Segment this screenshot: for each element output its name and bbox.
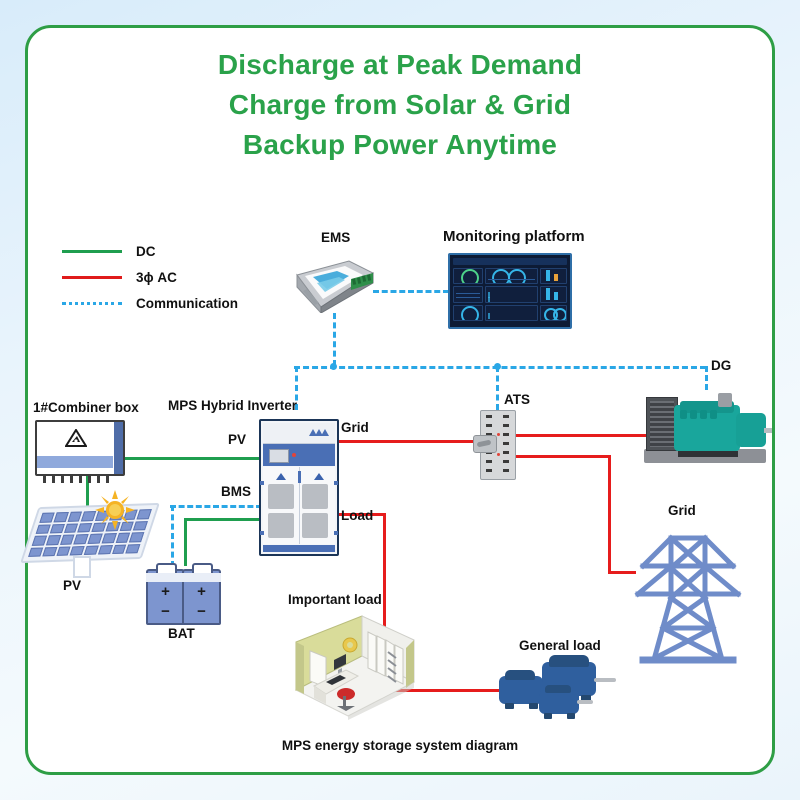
motor-small-foot-2 [567,713,575,719]
diagram-canvas: Discharge at Peak Demand Charge from Sol… [0,0,800,800]
legend-label-ac: 3ϕ AC [136,270,177,285]
dc-wire-battery-vertical [184,518,187,566]
legend: DC 3ϕ AC Communication [62,238,238,316]
label-load-port: Load [341,508,373,523]
dc-wire-combiner-to-inverter [124,457,260,460]
monitor-widget-bars-2 [540,286,567,302]
combiner-band [37,456,113,468]
label-bat: BAT [168,626,195,641]
monitoring-platform-display[interactable] [448,253,572,329]
inverter-module-3 [268,513,294,538]
sun-icon [95,490,135,530]
generator-air-filter [718,393,732,407]
inverter-control-band [263,444,335,466]
inverter-indicator-led [292,453,296,457]
ats-led-bottom [497,453,500,456]
inverter-display-icon [269,449,289,463]
label-ats: ATS [504,392,530,407]
label-grid-port: Grid [341,420,369,435]
motor-left-terminal-box [505,670,535,680]
motor-small [539,690,579,714]
inverter-terminal-right [334,481,338,485]
combiner-terminals [43,476,109,483]
diesel-generator [640,385,770,463]
inverter-module-1 [268,484,294,509]
combiner-side-panel [114,422,123,474]
legend-item-ac: 3ϕ AC [62,264,238,290]
monitor-widget-status [453,268,483,284]
diagram-caption: MPS energy storage system diagram [0,738,800,753]
inverter-logo-icon [309,428,329,436]
pv-panel-stand [73,556,91,578]
legend-label-communication: Communication [136,296,238,311]
generator-alternator [736,413,766,447]
important-load-room [288,612,418,722]
battery-cell-1: + − [146,569,185,625]
legend-swatch-dc-icon [62,250,122,253]
ac-wire-ats-to-dg [514,434,646,437]
motor-large-terminal-box [549,655,589,667]
comm-node-ems [330,363,337,370]
comm-wire-bms-vertical [171,505,174,567]
label-pv-panel: PV [63,578,81,593]
motor-left [499,676,543,704]
title-line-3: Backup Power Anytime [0,125,800,165]
title-line-2: Charge from Solar & Grid [0,85,800,125]
ac-wire-inverter-grid [335,440,480,443]
monitor-widget-meters [453,286,483,302]
battery-cell-2: + − [182,569,221,625]
motor-small-terminal-box [545,685,571,693]
monitor-widget-arcs [540,305,567,321]
ats-selector-lever [477,440,492,448]
monitor-widget-dial [453,305,483,321]
monitor-widget-grid [453,268,567,321]
motor-small-shaft [577,700,593,704]
ac-wire-ats-to-grid-h [514,455,610,458]
motor-small-foot-1 [544,713,552,719]
inverter-module-4 [302,513,328,538]
label-combiner-box: 1#Combiner box [33,400,139,415]
motor-left-foot-2 [529,703,538,709]
inverter-terminal-left-low [260,531,264,535]
mps-hybrid-inverter [259,419,339,556]
monitor-widget-sliders [485,286,539,302]
ats-transfer-switch [480,410,516,480]
label-ems: EMS [321,230,350,245]
legend-label-dc: DC [136,244,156,259]
inverter-vent-triangle-left-icon [276,473,286,480]
comm-wire-bms-horizontal [170,505,262,508]
dc-wire-bms-horizontal [184,518,262,521]
label-monitoring-platform: Monitoring platform [443,228,585,245]
legend-item-dc: DC [62,238,238,264]
combiner-box [35,420,125,476]
grid-transmission-tower [613,510,763,670]
motor-left-foot-1 [505,703,514,709]
ac-wire-grid-vertical [608,455,611,573]
inverter-base-plinth [263,545,335,552]
ats-led-top [497,433,500,436]
inverter-terminal-left [260,481,264,485]
title-block: Discharge at Peak Demand Charge from Sol… [0,45,800,165]
monitor-widget-bars-1 [540,268,567,284]
label-inverter: MPS Hybrid Inverter [168,398,297,413]
legend-item-communication: Communication [62,290,238,316]
inverter-handle [298,471,301,483]
comm-wire-ats-drop [496,366,499,410]
generator-exhaust-pipe [678,451,738,457]
label-bms-port: BMS [221,484,251,499]
transmission-tower-icon [613,510,763,670]
motor-large-shaft [594,678,616,682]
inverter-vent-triangle-right-icon [314,473,324,480]
title-line-1: Discharge at Peak Demand [0,45,800,85]
warning-triangle-icon [65,429,87,447]
monitor-widget-trend [485,305,539,321]
label-important-load: Important load [288,592,382,607]
general-load-motors [497,658,617,722]
generator-shaft [764,428,772,433]
legend-swatch-ac-icon [62,276,122,279]
pv-solar-panel [20,503,160,563]
monitor-title-bar [453,258,567,265]
ems-device [293,255,375,313]
battery-bank: + − + − [146,563,220,621]
legend-swatch-communication-icon [62,302,122,305]
inverter-terminal-right-low [334,531,338,535]
control-room-icon [288,612,418,722]
label-dg: DG [711,358,731,373]
monitor-widget-gauges [485,268,539,284]
inverter-module-2 [302,484,328,509]
comm-wire-ems-drop [333,313,336,366]
label-pv-port: PV [228,432,246,447]
comm-wire-ems-to-monitor [373,290,449,293]
ems-icon [293,255,375,313]
label-general-load: General load [519,638,601,653]
ats-selector-knob[interactable] [473,435,497,453]
ats-terminal-column-right [503,415,509,475]
